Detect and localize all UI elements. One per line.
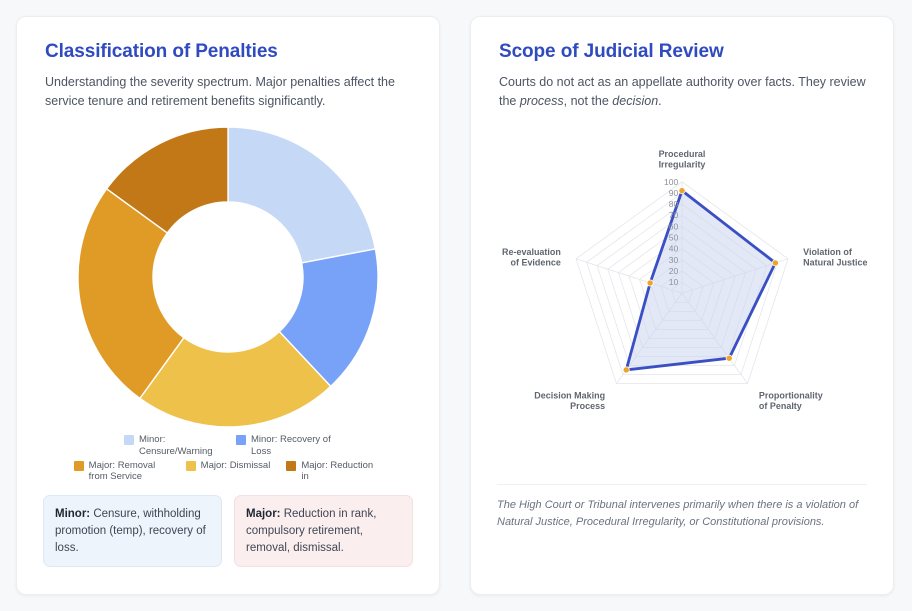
radar-tick-label: 10 xyxy=(669,277,679,287)
radar-tick-label: 50 xyxy=(669,232,679,242)
radar-data-point[interactable] xyxy=(647,280,653,286)
legend-row: Major: Removal from ServiceMajor: Dismis… xyxy=(49,460,407,484)
legend-swatch-icon xyxy=(286,461,296,471)
legend-item[interactable]: Major: Reduction in xyxy=(286,460,382,484)
subtitle-part-2: , not the xyxy=(564,94,613,108)
donut-chart xyxy=(39,116,417,438)
note-major-label: Major: xyxy=(246,508,281,520)
donut-chart-svg xyxy=(75,124,381,430)
radar-axis-label: Procedural xyxy=(659,149,706,159)
judicial-review-card: Scope of Judicial Review Courts do not a… xyxy=(470,16,894,595)
radar-chart-svg: 102030405060708090100 ProceduralIrregula… xyxy=(493,133,871,463)
note-major: Major: Reduction in rank, compulsory ret… xyxy=(234,495,413,567)
donut-segments[interactable] xyxy=(78,127,378,427)
subtitle-emphasis-decision: decision xyxy=(612,94,658,108)
radar-axis-label: Proportionality xyxy=(759,390,823,400)
radar-axis-label: of Evidence xyxy=(511,257,561,267)
legend-item-label: Major: Dismissal xyxy=(201,460,271,472)
radar-axis-label: Decision Making xyxy=(534,390,605,400)
penalties-subtitle: Understanding the severity spectrum. Maj… xyxy=(45,73,417,112)
radar-data-point[interactable] xyxy=(726,355,732,361)
radar-data-point[interactable] xyxy=(679,187,685,193)
radar-axis-label: Violation of xyxy=(803,247,852,257)
radar-axis-label: of Penalty xyxy=(759,401,802,411)
legend-item[interactable]: Major: Dismissal xyxy=(186,460,271,484)
subtitle-part-3: . xyxy=(658,94,661,108)
subtitle-emphasis-process: process xyxy=(520,94,564,108)
radar-axis-label: Natural Justice xyxy=(803,257,867,267)
note-minor-label: Minor: xyxy=(55,508,90,520)
page-title-penalties: Classification of Penalties xyxy=(45,41,417,63)
radar-tick-label: 90 xyxy=(669,188,679,198)
radar-tick-label: 60 xyxy=(669,221,679,231)
radar-axis-label: Irregularity xyxy=(659,159,706,169)
legend-item-label: Major: Reduction in xyxy=(301,460,382,484)
legend-swatch-icon xyxy=(74,461,84,471)
radar-chart: 102030405060708090100 ProceduralIrregula… xyxy=(493,118,871,478)
page-title-judicial-review: Scope of Judicial Review xyxy=(499,41,871,63)
legend-item[interactable]: Major: Removal from Service xyxy=(74,460,170,484)
note-minor: Minor: Censure, withholding promotion (t… xyxy=(43,495,222,567)
dashboard-page: Classification of Penalties Understandin… xyxy=(0,0,912,611)
judicial-review-footnote: The High Court or Tribunal intervenes pr… xyxy=(497,484,867,531)
donut-slice[interactable] xyxy=(228,127,375,263)
penalty-notes: Minor: Censure, withholding promotion (t… xyxy=(39,495,417,567)
judicial-review-subtitle: Courts do not act as an appellate author… xyxy=(499,73,871,112)
radar-data-point[interactable] xyxy=(623,367,629,373)
penalties-card: Classification of Penalties Understandin… xyxy=(16,16,440,595)
radar-tick-label: 30 xyxy=(669,255,679,265)
radar-tick-label: 40 xyxy=(669,243,679,253)
radar-tick-label: 100 xyxy=(664,177,678,187)
legend-swatch-icon xyxy=(186,461,196,471)
radar-tick-label: 70 xyxy=(669,210,679,220)
radar-tick-label: 80 xyxy=(669,199,679,209)
radar-axis-label: Re-evaluation xyxy=(502,247,561,257)
donut-legend[interactable]: Minor: Censure/WarningMinor: Recovery of… xyxy=(39,434,417,484)
radar-data-point[interactable] xyxy=(772,260,778,266)
radar-axis-label: Process xyxy=(570,401,605,411)
radar-tick-label: 20 xyxy=(669,266,679,276)
legend-item-label: Major: Removal from Service xyxy=(89,460,170,484)
